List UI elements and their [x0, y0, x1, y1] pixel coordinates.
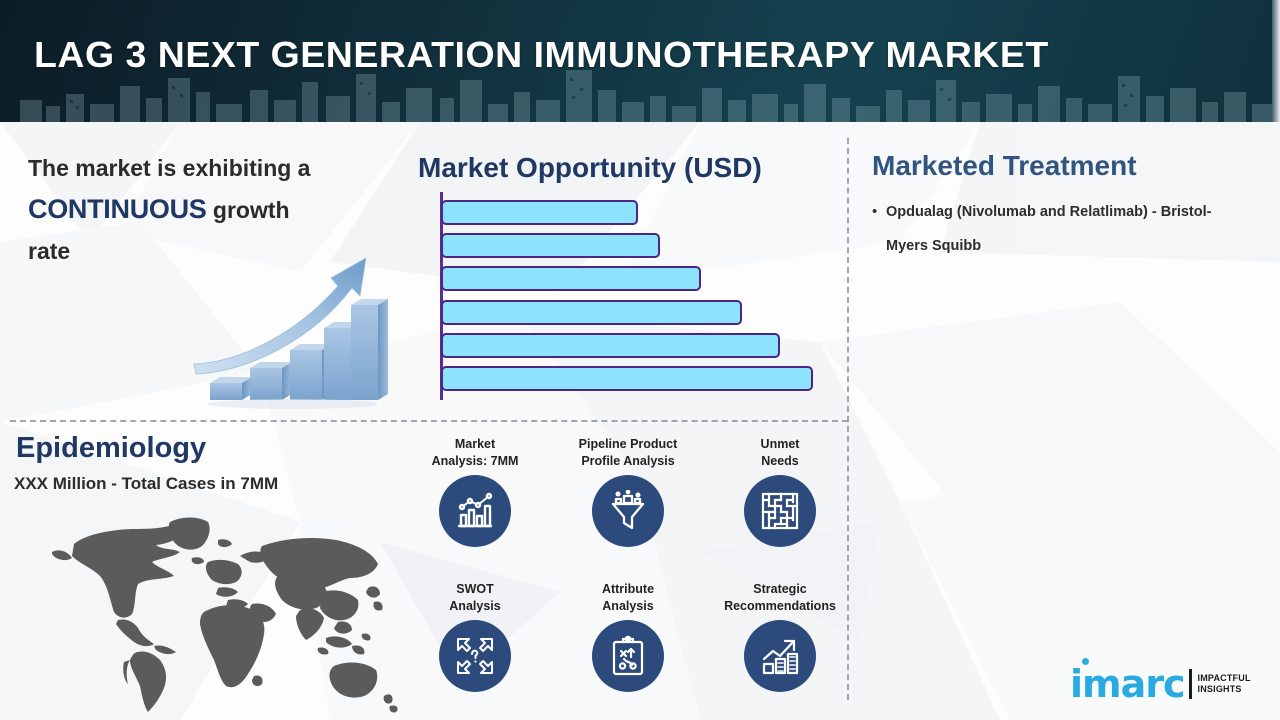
growth-arrow-bars-icon [744, 620, 816, 692]
epidemiology-subtitle: XXX Million - Total Cases in 7MM [14, 474, 278, 494]
header-banner: LAG 3 NEXT GENERATION IMMUNOTHERAPY MARK… [0, 0, 1280, 122]
grid-item-swot-analysis[interactable]: SWOT Analysis [402, 581, 548, 692]
chart-bar [441, 233, 660, 258]
label-line-2: Analysis [449, 599, 500, 613]
label-line-1: Pipeline Product [579, 437, 678, 451]
label-line-1: Market [455, 437, 495, 451]
label-line-1: Attribute [602, 582, 654, 596]
grid-item-label: SWOT Analysis [402, 581, 548, 614]
logo-tagline: IMPACTFUL INSIGHTS [1198, 673, 1251, 695]
grid-item-label: Attribute Analysis [555, 581, 701, 614]
label-line-2: Analysis [602, 599, 653, 613]
grid-item-market-analysis[interactable]: Market Analysis: 7MM [402, 436, 548, 547]
logo-wordmark: imarc [1070, 665, 1185, 703]
growth-line-2-rest: growth [207, 197, 290, 223]
page-title: LAG 3 NEXT GENERATION IMMUNOTHERAPY MARK… [34, 34, 1178, 76]
label-line-1: SWOT [456, 582, 494, 596]
grid-item-unmet-needs[interactable]: Unmet Needs [707, 436, 853, 547]
swot-arrows-question-icon [439, 620, 511, 692]
bullet-icon: • [872, 195, 886, 229]
chart-bar [441, 300, 742, 325]
growth-highlight: CONTINUOUS [28, 194, 207, 224]
label-line-2: Needs [761, 454, 799, 468]
label-line-2: Profile Analysis [581, 454, 674, 468]
chart-bar [441, 333, 780, 358]
market-opportunity-title: Market Opportunity (USD) [418, 152, 838, 184]
chart-bar [441, 200, 638, 225]
market-opportunity-chart [418, 190, 838, 405]
imarc-logo[interactable]: imarc IMPACTFUL INSIGHTS [1070, 662, 1260, 706]
infographic-slide: LAG 3 NEXT GENERATION IMMUNOTHERAPY MARK… [0, 0, 1280, 720]
marketed-treatment-list: • Opdualag (Nivolumab and Relatlimab) - … [872, 195, 1252, 263]
grid-item-pipeline-product-profile[interactable]: Pipeline Product Profile Analysis [555, 436, 701, 547]
grid-item-label: Unmet Needs [707, 436, 853, 469]
growth-line-1: The market is exhibiting a [28, 155, 310, 181]
grid-item-label: Pipeline Product Profile Analysis [555, 436, 701, 469]
chart-bar [441, 266, 701, 291]
label-line-2: Recommendations [724, 599, 836, 613]
clipboard-strategy-icon [592, 620, 664, 692]
logo-divider [1189, 669, 1192, 699]
growth-bar-chart-illustration [188, 250, 398, 410]
maze-icon [744, 475, 816, 547]
label-line-1: Unmet [761, 437, 800, 451]
bar-line-chart-icon [439, 475, 511, 547]
label-line-2: Analysis: 7MM [432, 454, 519, 468]
grid-item-strategic-recommendations[interactable]: Strategic Recommendations [707, 581, 853, 692]
label-line-1: Strategic [753, 582, 807, 596]
marketed-treatment-title: Marketed Treatment [872, 150, 1272, 182]
epidemiology-title: Epidemiology [16, 432, 206, 465]
grid-item-label: Market Analysis: 7MM [402, 436, 548, 469]
list-item: • Opdualag (Nivolumab and Relatlimab) - … [872, 195, 1252, 263]
chart-bar [441, 366, 813, 391]
funnel-icon [592, 475, 664, 547]
grid-item-label: Strategic Recommendations [707, 581, 853, 614]
tagline-line-2: INSIGHTS [1198, 684, 1251, 695]
analysis-icon-grid: Market Analysis: 7MM Pipeline Product Pr… [410, 436, 848, 704]
tagline-line-1: IMPACTFUL [1198, 673, 1251, 684]
world-map-icon [22, 500, 407, 715]
treatment-label: Opdualag (Nivolumab and Relatlimab) - Br… [886, 195, 1252, 263]
horizontal-divider [10, 420, 848, 422]
header-right-edge [1272, 0, 1280, 122]
grid-item-attribute-analysis[interactable]: Attribute Analysis [555, 581, 701, 692]
growth-line-3: rate [28, 238, 70, 264]
